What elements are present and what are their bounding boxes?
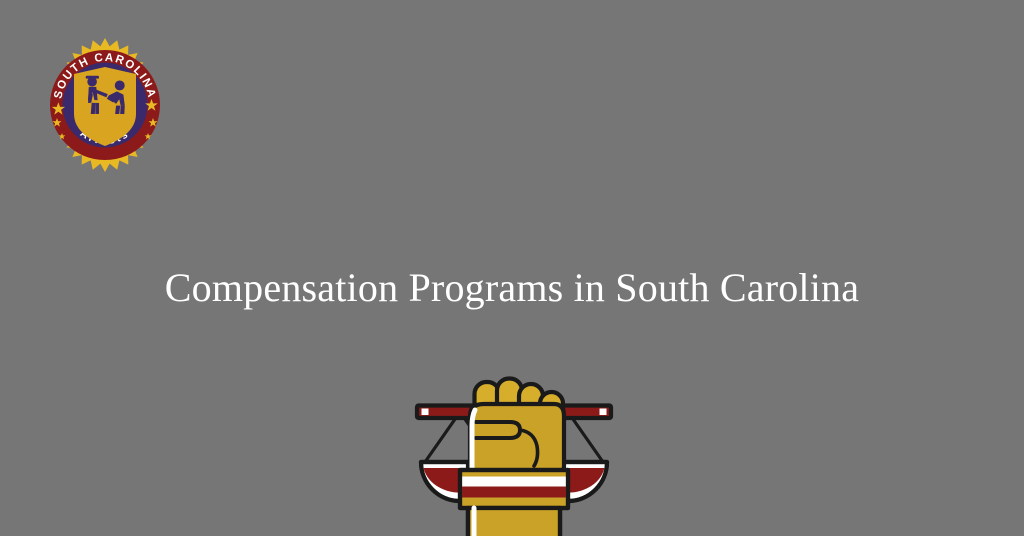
site-logo[interactable]: SOUTH CAROLINA Arrests (36, 36, 174, 174)
lower-forearm (468, 508, 560, 536)
raised-fist (470, 379, 564, 477)
page-title: Compensation Programs in South Carolina (0, 263, 1024, 313)
justice-illustration (398, 370, 630, 536)
wrist-cuff-band (460, 470, 568, 508)
page-canvas: SOUTH CAROLINA Arrests Comp (0, 0, 1024, 536)
